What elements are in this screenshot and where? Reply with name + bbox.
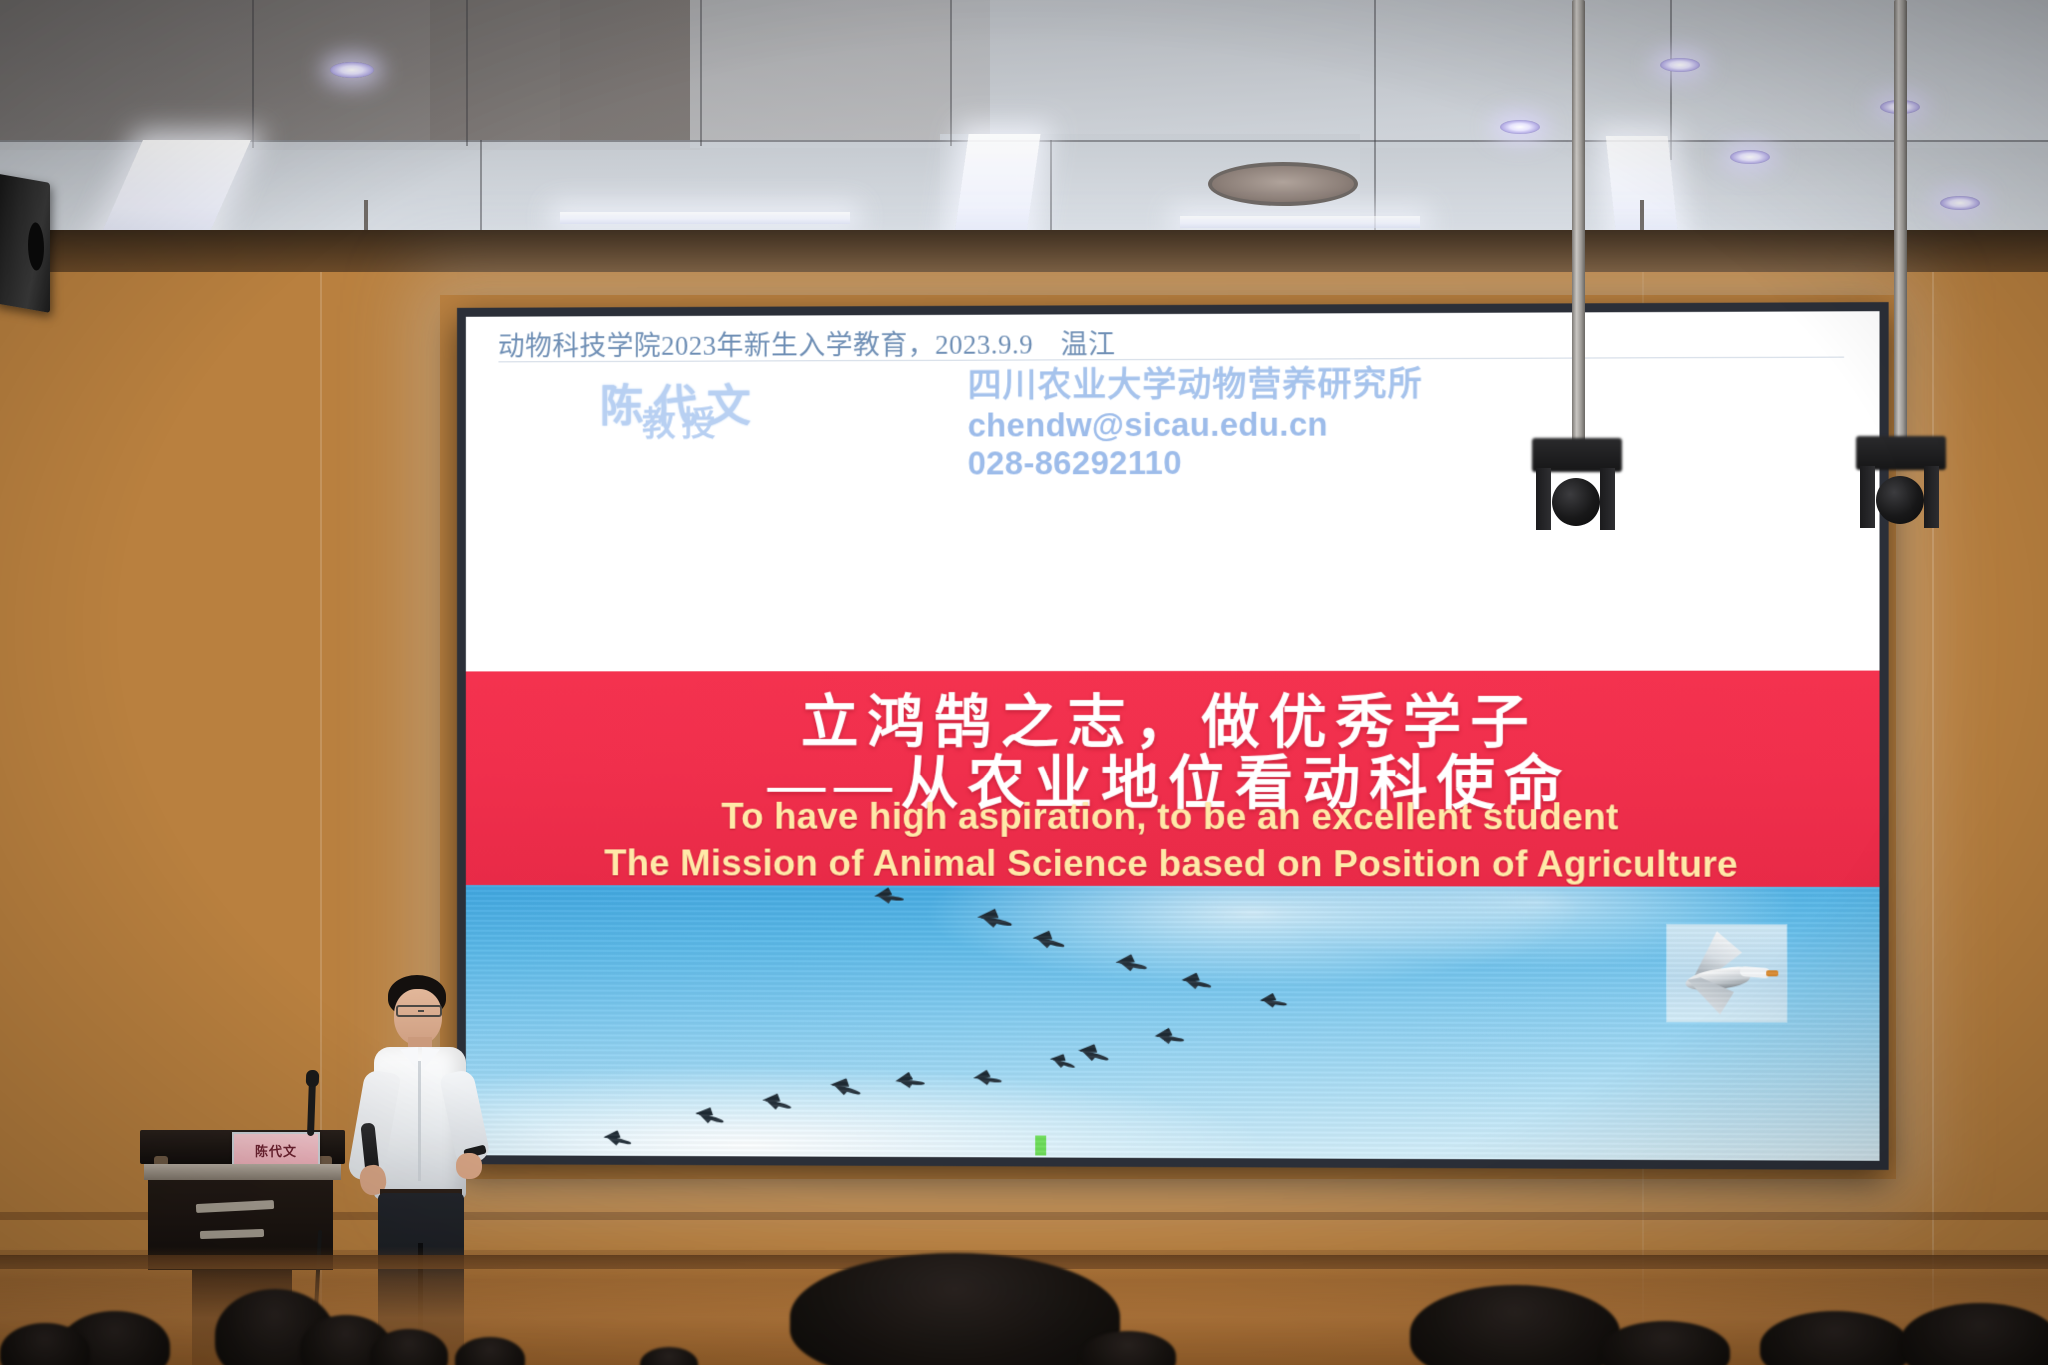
goose-icon	[759, 1095, 794, 1113]
contact-email: chendw@sicau.edu.cn	[968, 405, 1423, 445]
light-yoke	[1860, 466, 1875, 528]
speaker-name-card: 陈代文	[232, 1132, 320, 1168]
ceiling-downlight	[1660, 58, 1700, 72]
goose-icon	[872, 892, 907, 906]
speaker-title: 教授	[642, 396, 721, 445]
goose-icon	[1178, 974, 1214, 991]
ceiling-downlight	[330, 62, 374, 78]
lecture-hall-scene: 动物科技学院2023年新生入学教育，2023.9.9 温江 陈代文 教授 四川农…	[0, 0, 2048, 1365]
light-yoke	[1924, 466, 1939, 528]
ceiling-downlight	[1730, 150, 1770, 164]
wall-speaker	[0, 173, 50, 313]
ceiling-troffer	[1180, 216, 1420, 228]
sky-geese-photo	[466, 885, 1880, 1161]
light-head	[1532, 438, 1622, 472]
swan-inset-image	[1667, 925, 1786, 1022]
goose-icon	[1047, 1054, 1078, 1072]
title-english-line2: The Mission of Animal Science based on P…	[466, 842, 1880, 886]
slide-title-banner: 立鸿鹄之志，做优秀学子 ——从农业地位看动科使命 To have high as…	[466, 671, 1880, 888]
contact-block: 四川农业大学动物营养研究所 chendw@sicau.edu.cn 028-86…	[968, 365, 1423, 484]
title-english-line1: To have high aspiration, to be an excell…	[466, 795, 1880, 838]
swan-beak	[1766, 971, 1778, 977]
presenter-hand-left	[456, 1153, 482, 1179]
ceiling-vent	[1208, 162, 1358, 206]
goose-icon	[600, 1132, 633, 1148]
wall-top-trim	[0, 230, 2048, 272]
contact-phone: 028-86292110	[968, 444, 1423, 484]
ceiling-downlight	[1940, 196, 1980, 210]
light-yoke	[1536, 468, 1551, 530]
ceiling-troffer	[560, 212, 850, 224]
light-mount-pole	[1894, 0, 1907, 448]
speaker-cone	[28, 221, 44, 272]
goose-icon	[1113, 957, 1150, 974]
ceiling	[0, 0, 2048, 258]
goose-icon	[1257, 996, 1289, 1010]
light-mount-pole	[1572, 0, 1585, 452]
goose-icon	[827, 1079, 864, 1099]
slide-top-section: 动物科技学院2023年新生入学教育，2023.9.9 温江 陈代文 教授 四川农…	[466, 311, 1880, 671]
screen-pixel-artifact	[1035, 1135, 1046, 1155]
lectern-label	[196, 1200, 274, 1213]
light-lens	[1552, 478, 1600, 526]
audience-silhouettes	[0, 1235, 2048, 1365]
glasses-icon	[396, 1005, 442, 1017]
ceiling-downlight	[1500, 120, 1540, 134]
light-lens	[1876, 476, 1924, 524]
goose-icon	[971, 1074, 1004, 1087]
slide-header-line: 动物科技学院2023年新生入学教育，2023.9.9 温江	[498, 322, 1116, 363]
goose-icon	[1075, 1045, 1112, 1065]
goose-icon	[692, 1108, 727, 1127]
light-yoke	[1600, 468, 1615, 530]
shirt-placket	[418, 1061, 421, 1181]
contact-organization: 四川农业大学动物营养研究所	[968, 365, 1423, 407]
slide-surface: 动物科技学院2023年新生入学教育，2023.9.9 温江 陈代文 教授 四川农…	[466, 311, 1880, 1161]
goose-icon	[893, 1076, 928, 1089]
light-head	[1856, 436, 1946, 470]
goose-icon	[1152, 1031, 1187, 1046]
goose-icon	[1029, 932, 1068, 952]
led-presentation-screen[interactable]: 动物科技学院2023年新生入学教育，2023.9.9 温江 陈代文 教授 四川农…	[457, 302, 1889, 1170]
lectern-lip	[144, 1164, 341, 1180]
goose-icon	[974, 912, 1015, 932]
